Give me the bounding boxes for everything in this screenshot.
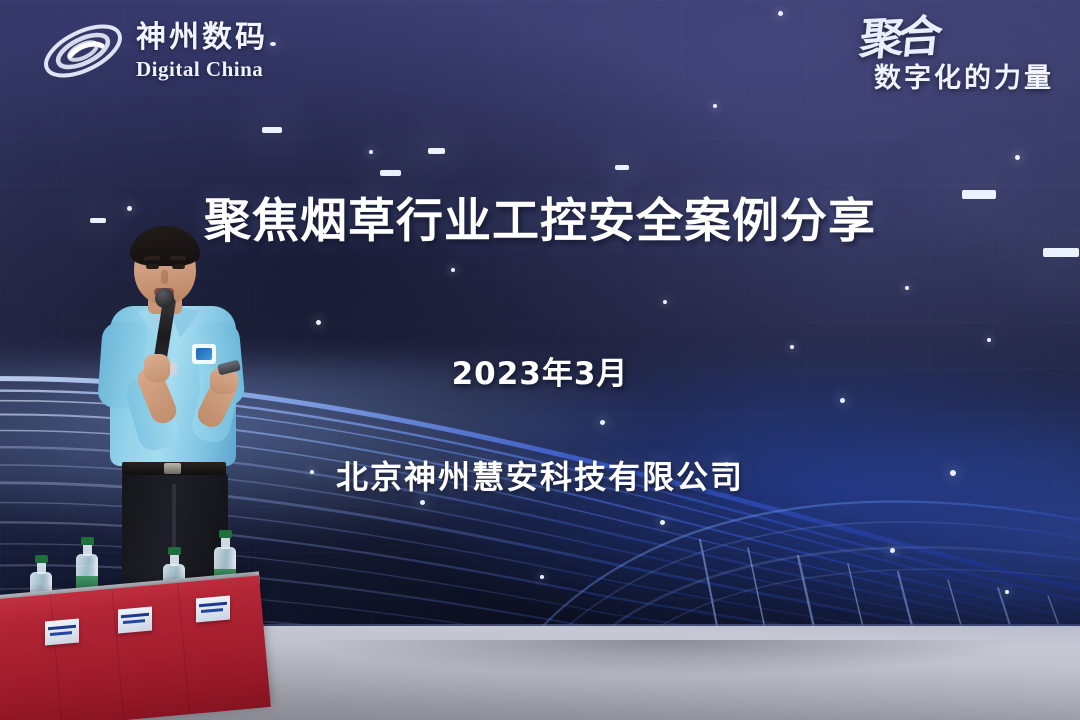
digital-china-logo: 神州数码 Digital China [40, 20, 268, 82]
brand-name-cn: 神州数码 [136, 23, 268, 53]
particle-dot [1015, 155, 1020, 160]
particle-dot [316, 320, 321, 325]
bottle-cap [168, 547, 181, 555]
presenter-hand-left [144, 354, 170, 382]
particle-dot [369, 150, 373, 154]
shirt-logo-mark-icon [196, 348, 212, 360]
belt-buckle [164, 463, 181, 474]
particle-dot [1005, 590, 1009, 594]
presenter-eye-right [172, 264, 185, 269]
name-card [118, 607, 152, 634]
particle-dash [615, 165, 629, 170]
particle-dot [987, 338, 991, 342]
presenter-eye-left [146, 264, 159, 269]
particle-dot [663, 300, 667, 304]
particle-dot [890, 548, 895, 553]
particle-dash [428, 148, 445, 154]
particle-dot [713, 104, 717, 108]
particle-dot [540, 575, 544, 579]
brand-name-en: Digital China [136, 59, 268, 80]
name-card [196, 596, 230, 623]
particle-dot [840, 398, 845, 403]
particle-dot [660, 520, 665, 525]
red-table-cloth [0, 575, 271, 720]
particle-dash [380, 170, 401, 176]
particle-dot [905, 286, 909, 290]
floor-shadow [250, 640, 1080, 690]
particle-dot [420, 500, 425, 505]
conference-stage-photo: 神州数码 Digital China 聚合 数字化的力量 聚焦烟草行业工控安全案… [0, 0, 1080, 720]
bottle-cap [81, 537, 94, 545]
bottle-cap [219, 530, 232, 538]
particle-dot [778, 11, 783, 16]
particle-dot [270, 42, 276, 46]
presenter-hair [130, 226, 200, 266]
digital-china-swirl-icon [40, 20, 126, 82]
particle-dot [451, 268, 455, 272]
event-logo: 聚合 数字化的力量 [860, 18, 1054, 95]
bottle-cap [35, 555, 48, 563]
particle-dash [262, 127, 282, 133]
digital-china-wordmark: 神州数码 Digital China [136, 23, 268, 80]
particle-dot [600, 420, 605, 425]
presenter-nose [161, 270, 168, 284]
event-calligraphy: 聚合 [858, 16, 939, 62]
name-card [45, 619, 79, 646]
